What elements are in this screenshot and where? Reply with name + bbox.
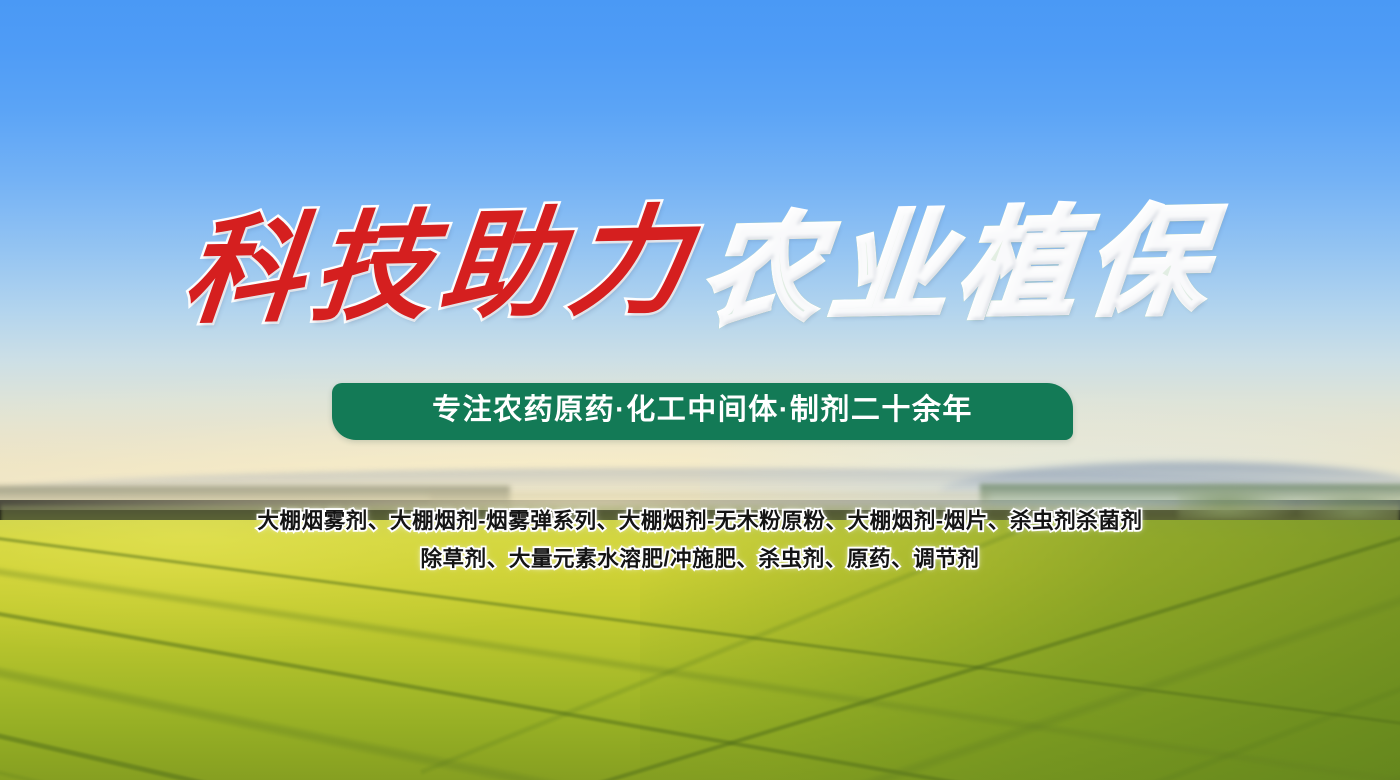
product-line: 大棚烟雾剂、大棚烟剂-烟雾弹系列、大棚烟剂-无木粉原粉、大棚烟剂-烟片、杀虫剂杀… bbox=[0, 502, 1400, 540]
product-list: 大棚烟雾剂、大棚烟剂-烟雾弹系列、大棚烟剂-无木粉原粉、大棚烟剂-烟片、杀虫剂杀… bbox=[0, 502, 1400, 578]
headline-green-text: 农业植保 bbox=[693, 203, 1224, 332]
headline-red-text: 科技助力 bbox=[175, 203, 706, 332]
agriculture-hero-banner: 科技助力农业植保 专注农药原药·化工中间体·制剂二十余年 大棚烟雾剂、大棚烟剂-… bbox=[0, 0, 1400, 780]
subtitle-text: 专注农药原药·化工中间体·制剂二十余年 bbox=[432, 396, 973, 427]
product-line: 除草剂、大量元素水溶肥/冲施肥、杀虫剂、原药、调节剂 bbox=[0, 540, 1400, 578]
subtitle-pill: 专注农药原药·化工中间体·制剂二十余年 bbox=[332, 383, 1073, 440]
headline: 科技助力农业植保 bbox=[0, 208, 1400, 326]
